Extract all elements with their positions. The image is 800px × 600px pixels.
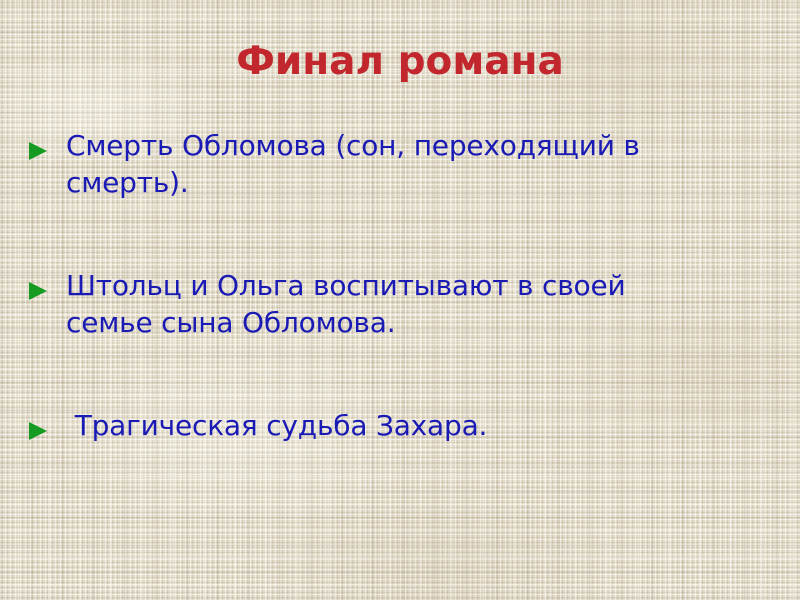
list-item-label: Штольц и Ольга воспитывают в своей семье… [66,268,698,342]
list-item-label: Трагическая судьба Захара. [66,408,766,445]
slide-title: Финал романа [0,42,800,83]
bullet-list: Смерть Обломова (сон, переходящий в смер… [28,128,772,445]
triangle-right-icon [28,421,50,441]
list-item-label: Смерть Обломова (сон, переходящий в смер… [66,128,716,202]
presentation-slide: Финал романа Смерть Обломова (сон, перех… [0,0,800,600]
triangle-right-icon [28,141,50,161]
list-item: Трагическая судьба Захара. [28,408,772,445]
list-item: Смерть Обломова (сон, переходящий в смер… [28,128,772,202]
triangle-right-icon [28,281,50,301]
list-item: Штольц и Ольга воспитывают в своей семье… [28,268,772,342]
slide-content: Финал романа Смерть Обломова (сон, перех… [0,0,800,600]
